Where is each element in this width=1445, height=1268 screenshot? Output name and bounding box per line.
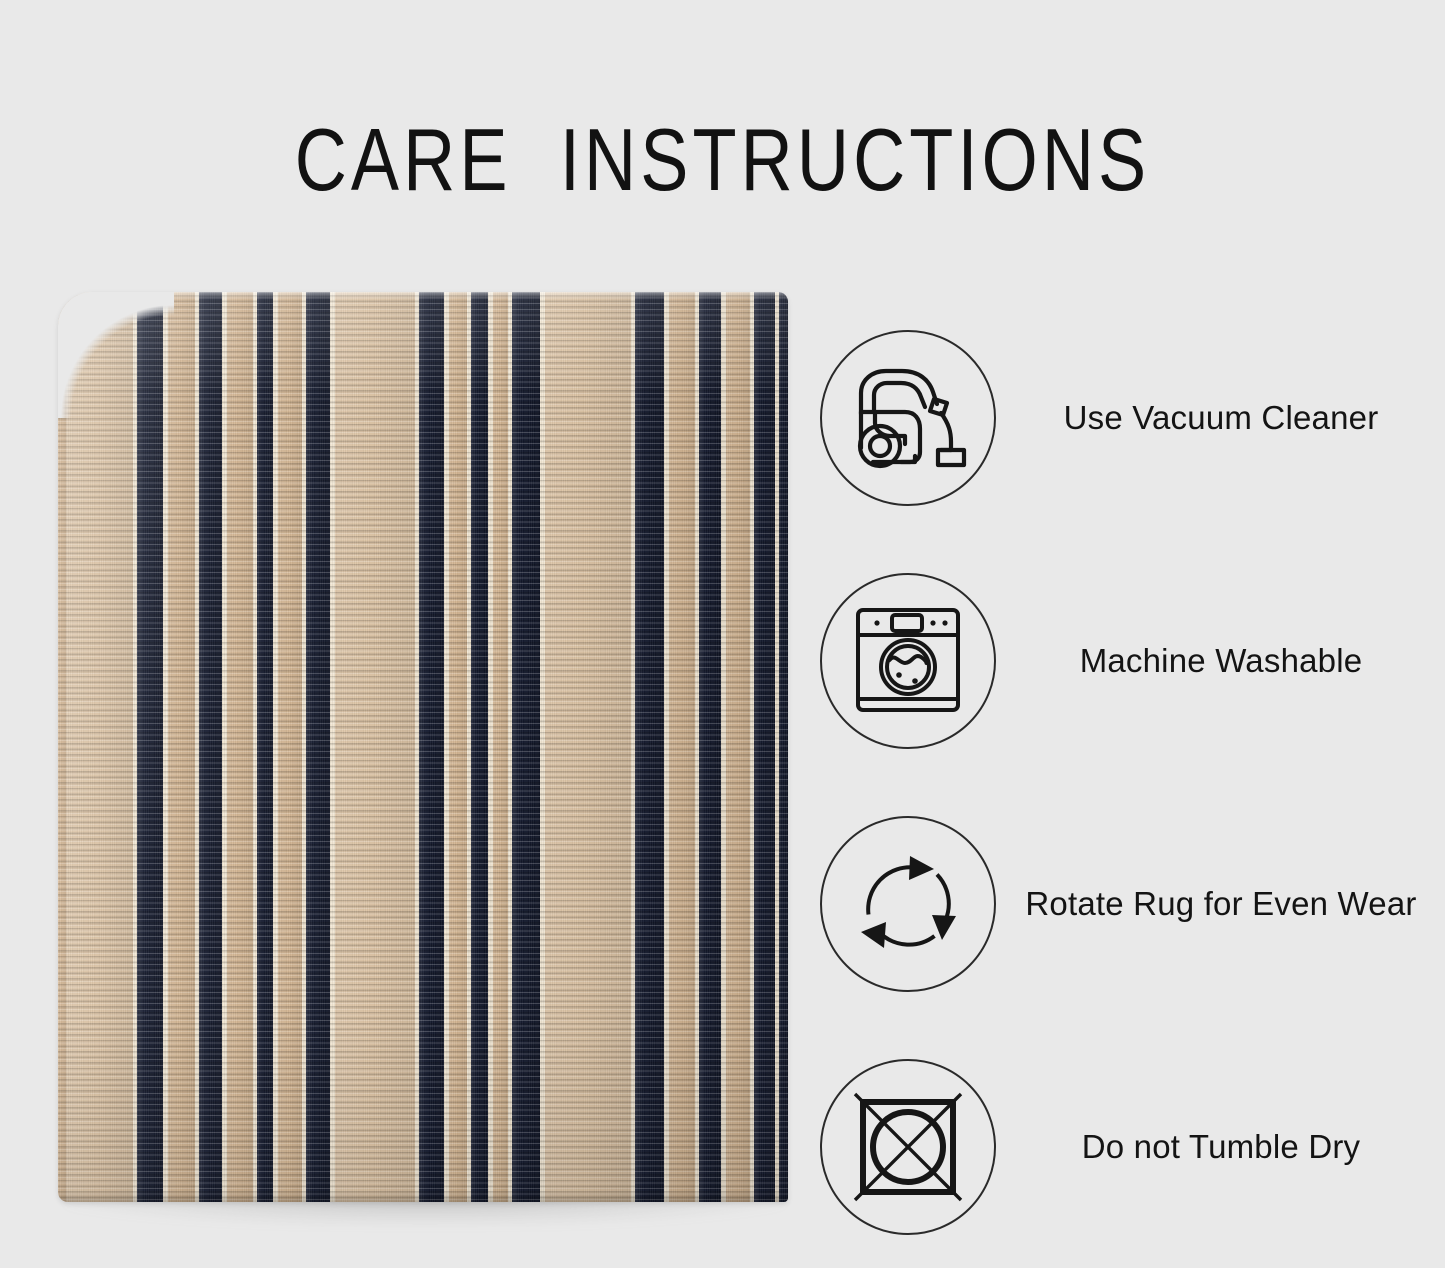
vacuum-cleaner-icon (820, 330, 996, 506)
product-image (58, 292, 788, 1212)
rug-stripe (545, 292, 631, 1202)
care-item-label: Machine Washable (996, 639, 1440, 683)
rug-stripe (168, 292, 195, 1202)
rug-stripe (335, 292, 415, 1202)
rug-stripe-pattern (58, 292, 788, 1202)
rug-stripe (754, 292, 775, 1202)
page-title: CARE INSTRUCTIONS (130, 112, 1315, 208)
care-instruction-list: Use Vacuum Cleaner (820, 296, 1440, 1268)
rug-stripe (493, 292, 508, 1202)
rug-stripe (699, 292, 721, 1202)
care-item-label: Rotate Rug for Even Wear (996, 882, 1440, 926)
striped-rug (58, 292, 788, 1202)
rug-stripe (779, 292, 788, 1202)
rug-stripe (306, 292, 330, 1202)
care-item-rotate: Rotate Rug for Even Wear (820, 782, 1440, 1025)
rug-stripe (278, 292, 302, 1202)
rug-stripe (257, 292, 273, 1202)
rotate-arrows-icon (820, 816, 996, 992)
care-instructions-page: CARE INSTRUCTIONS (0, 0, 1445, 1264)
rug-stripe (66, 292, 133, 1202)
care-item-vacuum: Use Vacuum Cleaner (820, 296, 1440, 539)
rug-stripe (669, 292, 695, 1202)
do-not-tumble-dry-icon (820, 1059, 996, 1235)
rug-stripe (199, 292, 222, 1202)
rug-stripe (512, 292, 540, 1202)
rug-stripe (726, 292, 750, 1202)
washing-machine-icon (820, 573, 996, 749)
rug-stripe (449, 292, 467, 1202)
rug-stripe (137, 292, 163, 1202)
rug-stripe (471, 292, 488, 1202)
rug-stripe (419, 292, 444, 1202)
care-item-machine-wash: Machine Washable (820, 539, 1440, 782)
rug-stripe (635, 292, 664, 1202)
care-item-label: Use Vacuum Cleaner (996, 396, 1440, 440)
care-item-no-tumble-dry: Do not Tumble Dry (820, 1025, 1440, 1268)
care-item-label: Do not Tumble Dry (996, 1125, 1440, 1169)
rug-stripe (227, 292, 253, 1202)
